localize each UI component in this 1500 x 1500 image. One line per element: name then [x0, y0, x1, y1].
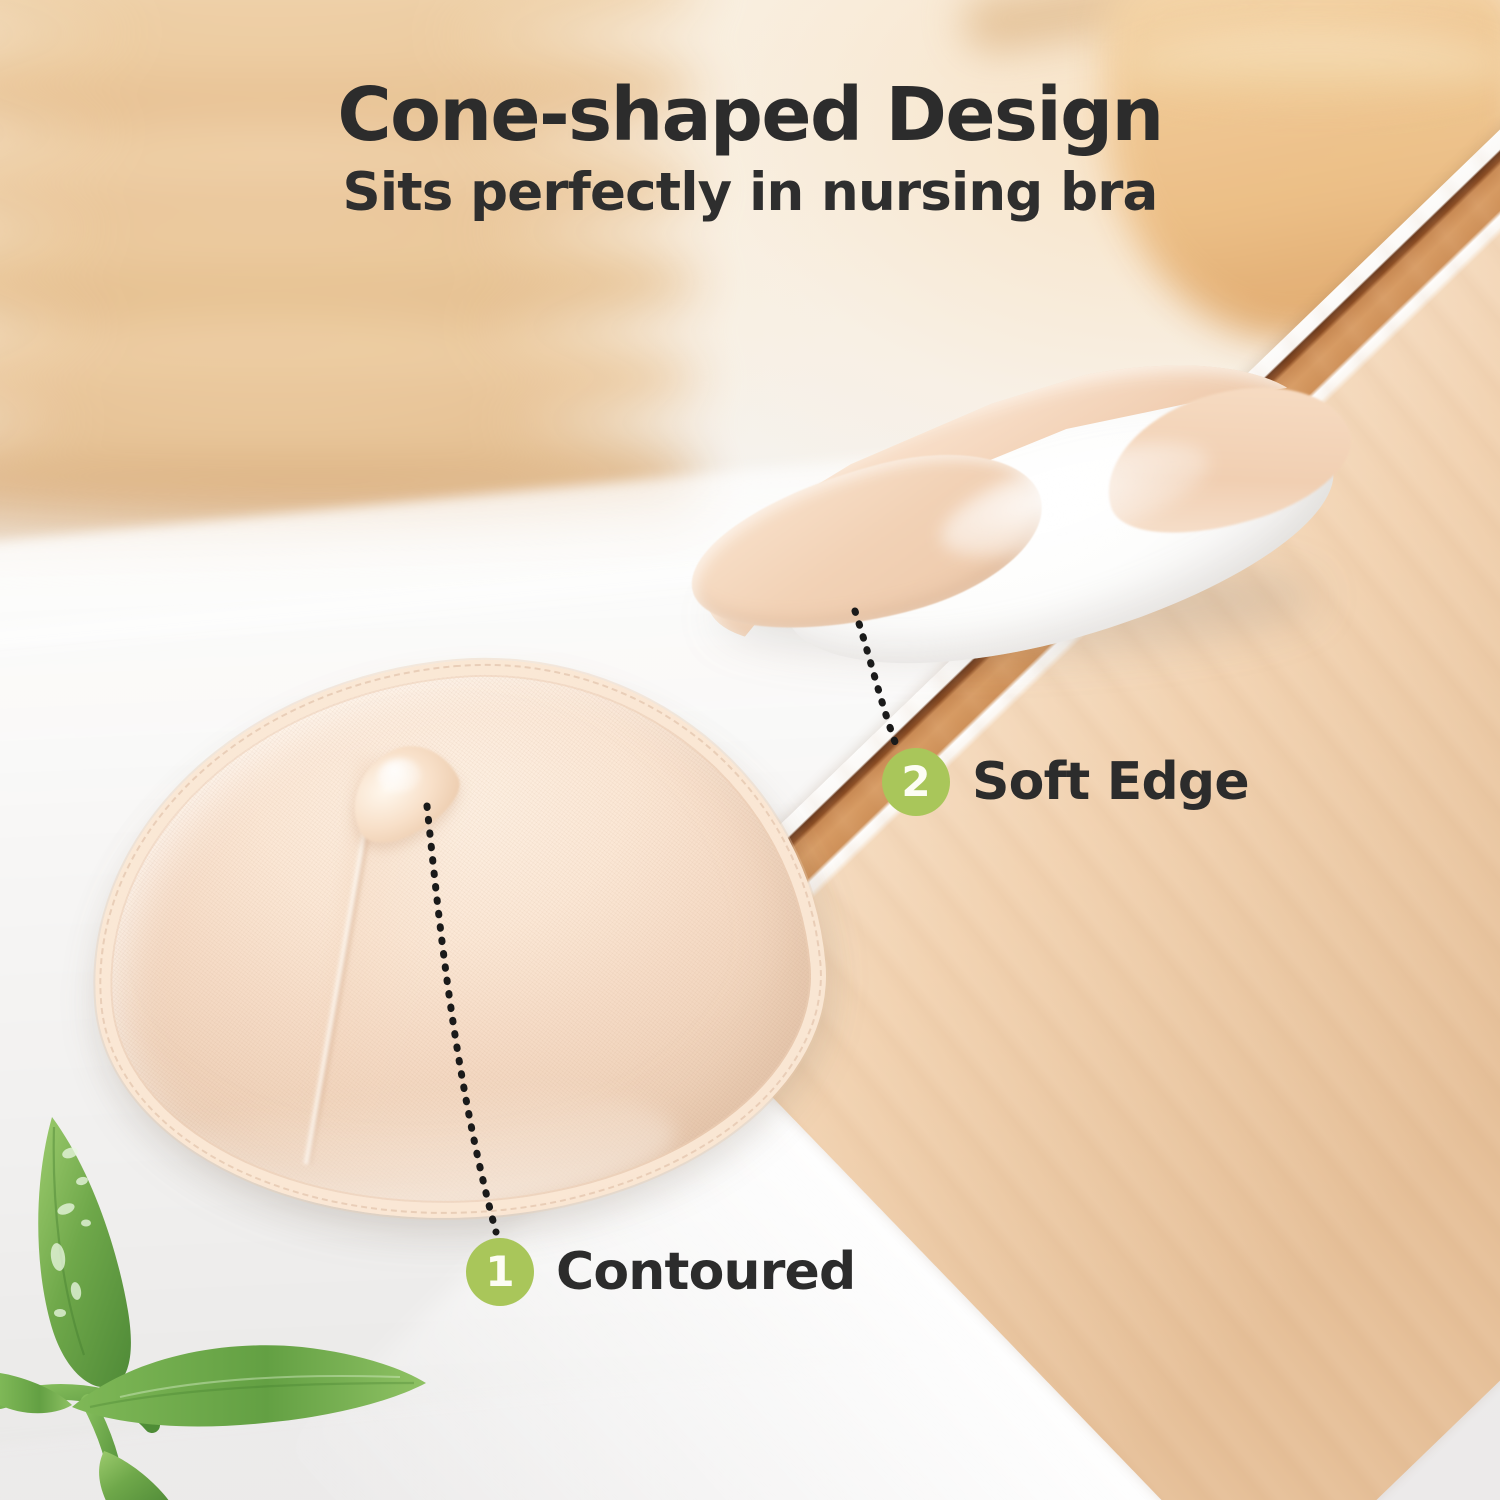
callout-badge-2: 2: [882, 748, 950, 816]
callout-soft-edge: 2 Soft Edge: [882, 748, 1249, 816]
callout-contoured: 1 Contoured: [466, 1238, 855, 1306]
bamboo-bowl-rim: [1118, 30, 1500, 100]
nursing-pad-edge-view: [682, 380, 1371, 666]
callout-label-1: Contoured: [556, 1242, 855, 1302]
bamboo-leaf-bottom: [99, 1451, 172, 1500]
callout-badge-1: 1: [466, 1238, 534, 1306]
bamboo-leaf-sprig: [0, 1105, 430, 1500]
product-infographic: Cone-shaped Design Sits perfectly in nur…: [0, 0, 1500, 1500]
bamboo-stack-layer: [0, 28, 700, 136]
bamboo-stack-layer: [0, 222, 700, 330]
bamboo-stack-layer: [0, 126, 700, 234]
callout-label-2: Soft Edge: [972, 752, 1249, 812]
bamboo-leaf-upper: [38, 1117, 131, 1387]
bamboo-stack-layer: [0, 318, 700, 426]
